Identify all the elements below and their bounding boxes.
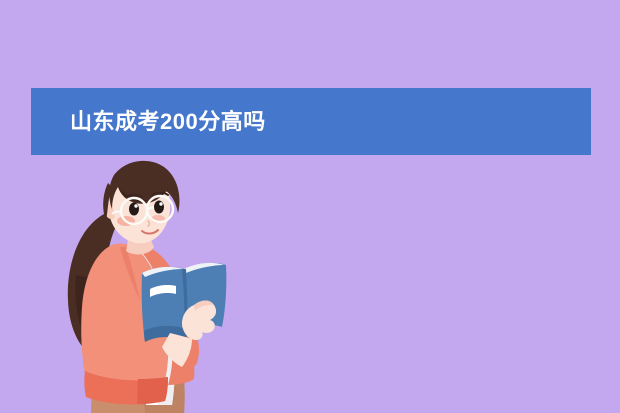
promo-image-canvas: 山东成考200分高吗 xyxy=(0,0,620,413)
woman-reading-book-illustration xyxy=(46,155,266,413)
title-banner: 山东成考200分高吗 xyxy=(31,88,591,155)
page-title: 山东成考200分高吗 xyxy=(70,111,266,133)
